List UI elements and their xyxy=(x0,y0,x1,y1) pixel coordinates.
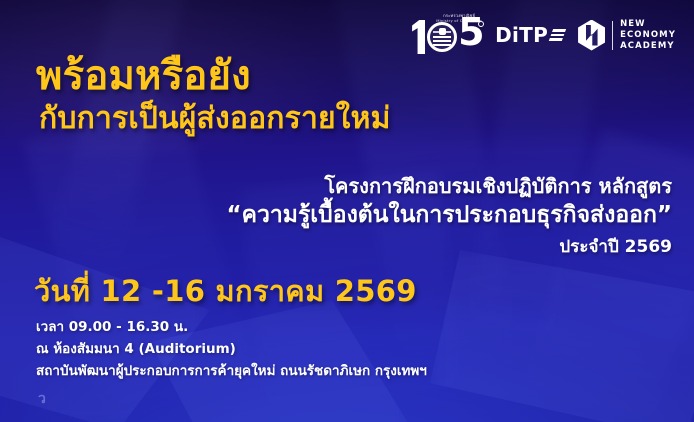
ministry-of-commerce-105-anniversary-logo: กระทรวงพาณิชย์ Ministry of Commerce xyxy=(412,14,481,56)
course-year: ประจำปี 2569 xyxy=(226,233,672,261)
headline-line-2: กับการเป็นผู้ส่งออกรายใหม่ xyxy=(39,104,391,134)
headline-line-1: พร้อมหรือยัง xyxy=(36,56,391,96)
headline: พร้อมหรือยัง กับการเป็นผู้ส่งออกรายใหม่ xyxy=(36,56,391,134)
event-date: วันที่ 12 -16 มกราคม 2569 xyxy=(34,276,417,308)
event-poster: กระทรวงพาณิชย์ Ministry of Commerce DiTP… xyxy=(0,0,694,422)
corner-watermark: ว xyxy=(38,388,46,410)
degree-dot-icon xyxy=(478,21,484,27)
event-venue: สถาบันพัฒนาผู้ประกอบการการค้ายุคใหม่ ถนน… xyxy=(36,360,427,382)
logo-bar: กระทรวงพาณิชย์ Ministry of Commerce DiTP… xyxy=(412,12,676,58)
digit-one-icon xyxy=(412,20,425,54)
nea-line-economy: ECONOMY xyxy=(620,30,676,40)
event-details: เวลา 09.00 - 16.30 น. ณ ห้องสัมมนา 4 (Au… xyxy=(36,316,427,382)
ditp-stripes-icon xyxy=(549,29,566,41)
course-block: โครงการฝึกอบรมเชิงปฏิบัติการ หลักสูตร “ค… xyxy=(226,172,672,261)
nea-line-academy: ACADEMY xyxy=(620,41,676,51)
course-program-label: โครงการฝึกอบรมเชิงปฏิบัติการ หลักสูตร xyxy=(226,172,672,200)
event-time: เวลา 09.00 - 16.30 น. xyxy=(36,316,427,338)
hexagon-n-icon xyxy=(578,20,605,51)
nea-wordmark: NEW ECONOMY ACADEMY xyxy=(620,19,676,51)
nea-line-new: NEW xyxy=(620,19,676,29)
new-economy-academy-logo: NEW ECONOMY ACADEMY xyxy=(578,19,676,51)
course-title: “ความรู้เบื้องต้นในการประกอบธุรกิจส่งออก… xyxy=(226,200,672,231)
ditp-logo: DiTP xyxy=(495,23,564,47)
logo-divider xyxy=(612,21,613,50)
facet-decoration xyxy=(430,250,694,422)
digit-five-icon xyxy=(459,20,481,54)
event-room: ณ ห้องสัมมนา 4 (Auditorium) xyxy=(36,338,427,360)
ditp-wordmark: DiTP xyxy=(495,23,548,47)
digit-zero-emblem-icon xyxy=(427,22,457,52)
